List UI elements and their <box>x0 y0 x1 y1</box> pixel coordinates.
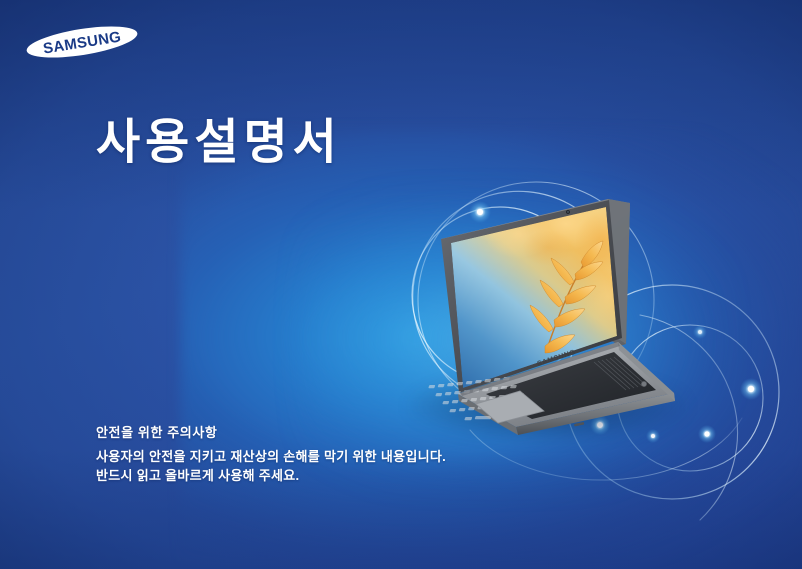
product-laptop: SAMSUNG <box>398 186 688 436</box>
laptop-power-button <box>641 381 646 386</box>
safety-notice-heading: 안전을 위한 주의사항 <box>96 425 446 441</box>
safety-notice-line-1: 사용자의 안전을 지키고 재산상의 손해를 막기 위한 내용입니다. <box>96 448 446 467</box>
samsung-logo: SAMSUNG <box>24 26 140 59</box>
manual-cover-page: SAMSUNG <box>0 0 802 569</box>
laptop-usb-port <box>574 422 584 427</box>
page-title: 사용설명서 <box>96 117 342 170</box>
laptop-illustration: SAMSUNG <box>398 186 688 436</box>
safety-notice-body: 사용자의 안전을 지키고 재산상의 손해를 막기 위한 내용입니다. 반드시 읽… <box>96 448 446 486</box>
safety-notice-line-2: 반드시 읽고 올바르게 사용해 주세요. <box>96 467 446 486</box>
safety-notice-block: 안전을 위한 주의사항 사용자의 안전을 지키고 재산상의 손해를 막기 위한 … <box>96 425 446 486</box>
